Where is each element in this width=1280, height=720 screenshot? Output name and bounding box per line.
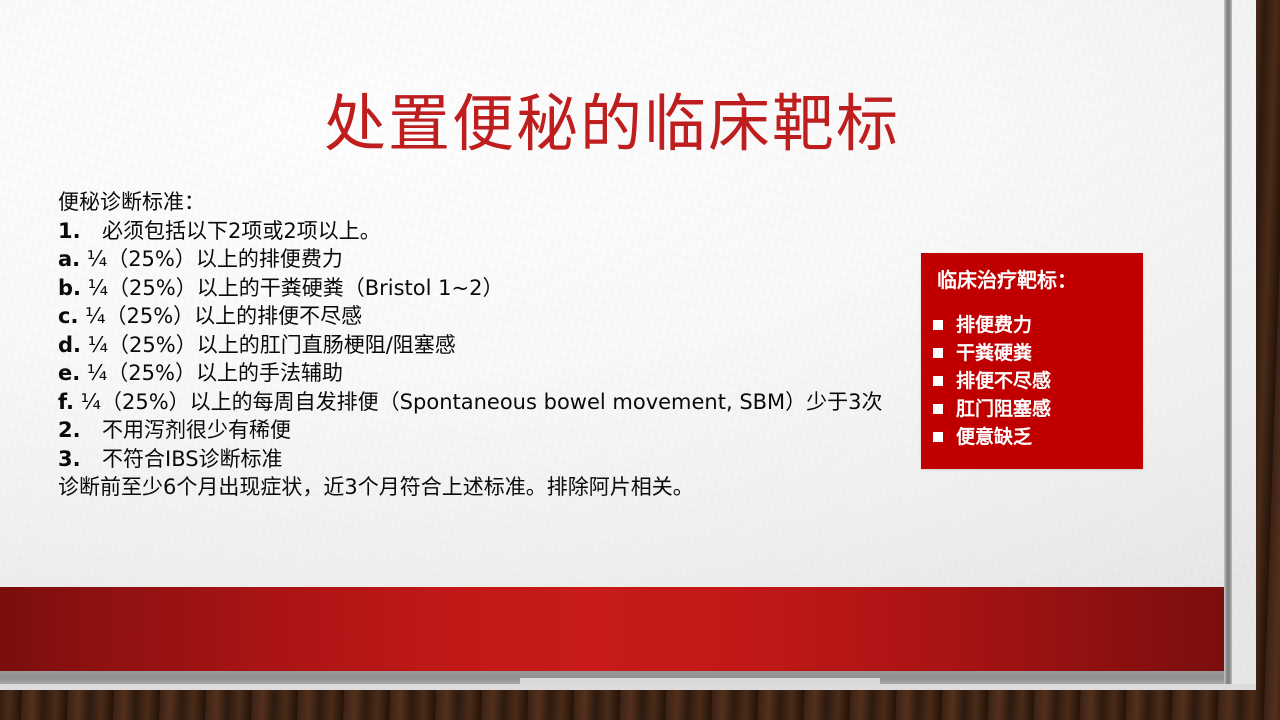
list-text: ¼（25%）以上的每周自发排便（Spontaneous bowel moveme… xyxy=(81,390,883,414)
banner-shadow-strip xyxy=(0,671,1224,684)
callout-title: 临床治疗靶标： xyxy=(933,267,1143,293)
desktop-backdrop: 处置便秘的临床靶标 便秘诊断标准： 1.必须包括以下2项或2项以上。 a. ¼（… xyxy=(0,0,1280,720)
list-text: ¼（25%）以上的肛门直肠梗阻/阻塞感 xyxy=(88,333,456,357)
callout-item-label: 排便不尽感 xyxy=(956,367,1051,395)
callout-list-item: 排便不尽感 xyxy=(933,367,1143,395)
list-item: 2.不用泻剂很少有稀便 xyxy=(58,416,938,445)
list-item: e. ¼（25%）以上的手法辅助 xyxy=(58,359,938,388)
slide-right-rule xyxy=(1224,0,1232,684)
list-marker: b. xyxy=(58,274,81,303)
callout-list: 排便费力 干粪硬粪 排便不尽感 肛门阻塞感 便意缺乏 xyxy=(933,311,1143,451)
list-marker: 2. xyxy=(58,416,102,445)
square-bullet-icon xyxy=(933,404,943,414)
callout-list-item: 便意缺乏 xyxy=(933,423,1143,451)
list-text: 必须包括以下2项或2项以上。 xyxy=(102,219,381,243)
body-footnote: 诊断前至少6个月出现症状，近3个月符合上述标准。排除阿片相关。 xyxy=(58,473,938,502)
list-item: b. ¼（25%）以上的干粪硬粪（Bristol 1~2） xyxy=(58,274,938,303)
list-item: 1.必须包括以下2项或2项以上。 xyxy=(58,217,938,246)
slide-canvas: 处置便秘的临床靶标 便秘诊断标准： 1.必须包括以下2项或2项以上。 a. ¼（… xyxy=(0,0,1256,690)
callout-list-item: 干粪硬粪 xyxy=(933,339,1143,367)
list-marker: c. xyxy=(58,302,78,331)
callout-item-label: 干粪硬粪 xyxy=(956,339,1032,367)
list-marker: d. xyxy=(58,331,81,360)
callout-list-item: 排便费力 xyxy=(933,311,1143,339)
slide-title: 处置便秘的临床靶标 xyxy=(0,88,1224,160)
list-marker: 3. xyxy=(58,445,102,474)
bottom-red-banner xyxy=(0,587,1224,671)
square-bullet-icon xyxy=(933,348,943,358)
square-bullet-icon xyxy=(933,320,943,330)
list-text: ¼（25%）以上的手法辅助 xyxy=(87,361,343,385)
list-item: a. ¼（25%）以上的排便费力 xyxy=(58,245,938,274)
list-marker: e. xyxy=(58,359,80,388)
square-bullet-icon xyxy=(933,432,943,442)
list-marker: a. xyxy=(58,245,80,274)
slide-bottom-strip xyxy=(0,684,1256,690)
callout-item-label: 排便费力 xyxy=(956,311,1032,339)
list-text: ¼（25%）以上的排便不尽感 xyxy=(85,304,362,328)
list-item: d. ¼（25%）以上的肛门直肠梗阻/阻塞感 xyxy=(58,331,938,360)
square-bullet-icon xyxy=(933,376,943,386)
callout-item-label: 便意缺乏 xyxy=(956,423,1032,451)
clinical-target-callout: 临床治疗靶标： 排便费力 干粪硬粪 排便不尽感 肛门阻塞感 xyxy=(921,253,1143,469)
list-text: 不用泻剂很少有稀便 xyxy=(102,418,291,442)
list-item: c. ¼（25%）以上的排便不尽感 xyxy=(58,302,938,331)
list-item: f. ¼（25%）以上的每周自发排便（Spontaneous bowel mov… xyxy=(58,388,938,417)
list-marker: f. xyxy=(58,388,74,417)
list-text: ¼（25%）以上的排便费力 xyxy=(87,247,343,271)
callout-list-item: 肛门阻塞感 xyxy=(933,395,1143,423)
list-marker: 1. xyxy=(58,217,102,246)
callout-item-label: 肛门阻塞感 xyxy=(956,395,1051,423)
list-item: 3.不符合IBS诊断标准 xyxy=(58,445,938,474)
body-heading: 便秘诊断标准： xyxy=(58,188,938,217)
list-text: 不符合IBS诊断标准 xyxy=(102,447,283,471)
list-text: ¼（25%）以上的干粪硬粪（Bristol 1~2） xyxy=(88,276,504,300)
body-text-block: 便秘诊断标准： 1.必须包括以下2项或2项以上。 a. ¼（25%）以上的排便费… xyxy=(58,188,938,502)
